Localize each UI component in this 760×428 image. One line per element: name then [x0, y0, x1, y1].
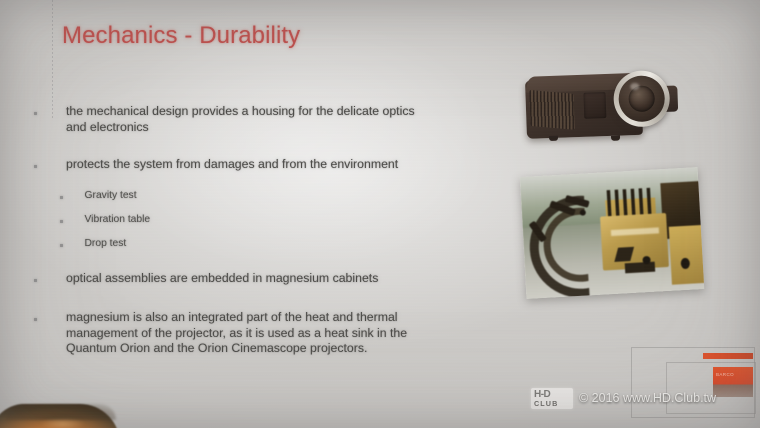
hd-club-logo-top-label: H-D	[534, 390, 550, 400]
bullet-marker-icon	[34, 318, 37, 321]
list-item: optical assemblies are embedded in magne…	[34, 271, 454, 287]
list-item: magnesium is also an integrated part of …	[34, 310, 454, 357]
list-item-label: magnesium is also an integrated part of …	[66, 310, 424, 357]
projector-foot	[549, 136, 558, 141]
list-item: Gravity test	[60, 189, 360, 203]
list-item-label: protects the system from damages and fro…	[66, 157, 456, 173]
hd-club-logo-icon: H-D CLUB	[531, 388, 573, 409]
list-item: Vibration table	[60, 213, 360, 227]
bullet-marker-icon	[60, 220, 63, 223]
list-item-label: Vibration table	[85, 213, 151, 227]
cabinet-right-block	[669, 225, 705, 285]
mechanical-internals-photo	[520, 167, 705, 299]
list-item: Drop test	[60, 237, 360, 251]
projector-photo	[517, 63, 696, 153]
projector-side-panel	[583, 92, 606, 119]
bullet-marker-icon	[60, 196, 63, 199]
brand-logo: BARCO	[713, 367, 753, 397]
projector-lens-ring	[613, 70, 671, 128]
list-item-label: the mechanical design provides a housing…	[66, 104, 426, 135]
list-item-label: Drop test	[85, 237, 127, 251]
slide-footer-accent-bar	[703, 353, 753, 359]
projector-lens-barrel	[618, 75, 666, 123]
bullet-marker-icon	[34, 112, 37, 115]
projector-foot	[611, 136, 620, 141]
bullet-list: the mechanical design provides a housing…	[0, 0, 470, 428]
brand-logo-label: BARCO	[716, 372, 734, 377]
photo-content-layer	[520, 167, 705, 299]
list-item: the mechanical design provides a housing…	[34, 104, 454, 135]
list-item: protects the system from damages and fro…	[34, 157, 464, 173]
bullet-marker-icon	[34, 279, 37, 282]
bullet-marker-icon	[34, 165, 37, 168]
cabinet-slot	[625, 262, 656, 274]
audience-head-highlight	[40, 418, 86, 428]
list-item-label: optical assemblies are embedded in magne…	[66, 271, 436, 287]
projector-vent-grille	[529, 90, 574, 130]
list-item-label: Gravity test	[85, 189, 137, 203]
hd-club-logo-bottom-label: CLUB	[534, 400, 558, 408]
slide-photo-screenshot: Mechanics - Durability the mechanical de…	[0, 0, 760, 428]
lens-highlight	[630, 83, 639, 90]
watermark-text: © 2016 www.HD.Club.tw	[579, 391, 716, 405]
bullet-marker-icon	[60, 244, 63, 247]
watermark: H-D CLUB © 2016 www.HD.Club.tw	[531, 387, 716, 409]
